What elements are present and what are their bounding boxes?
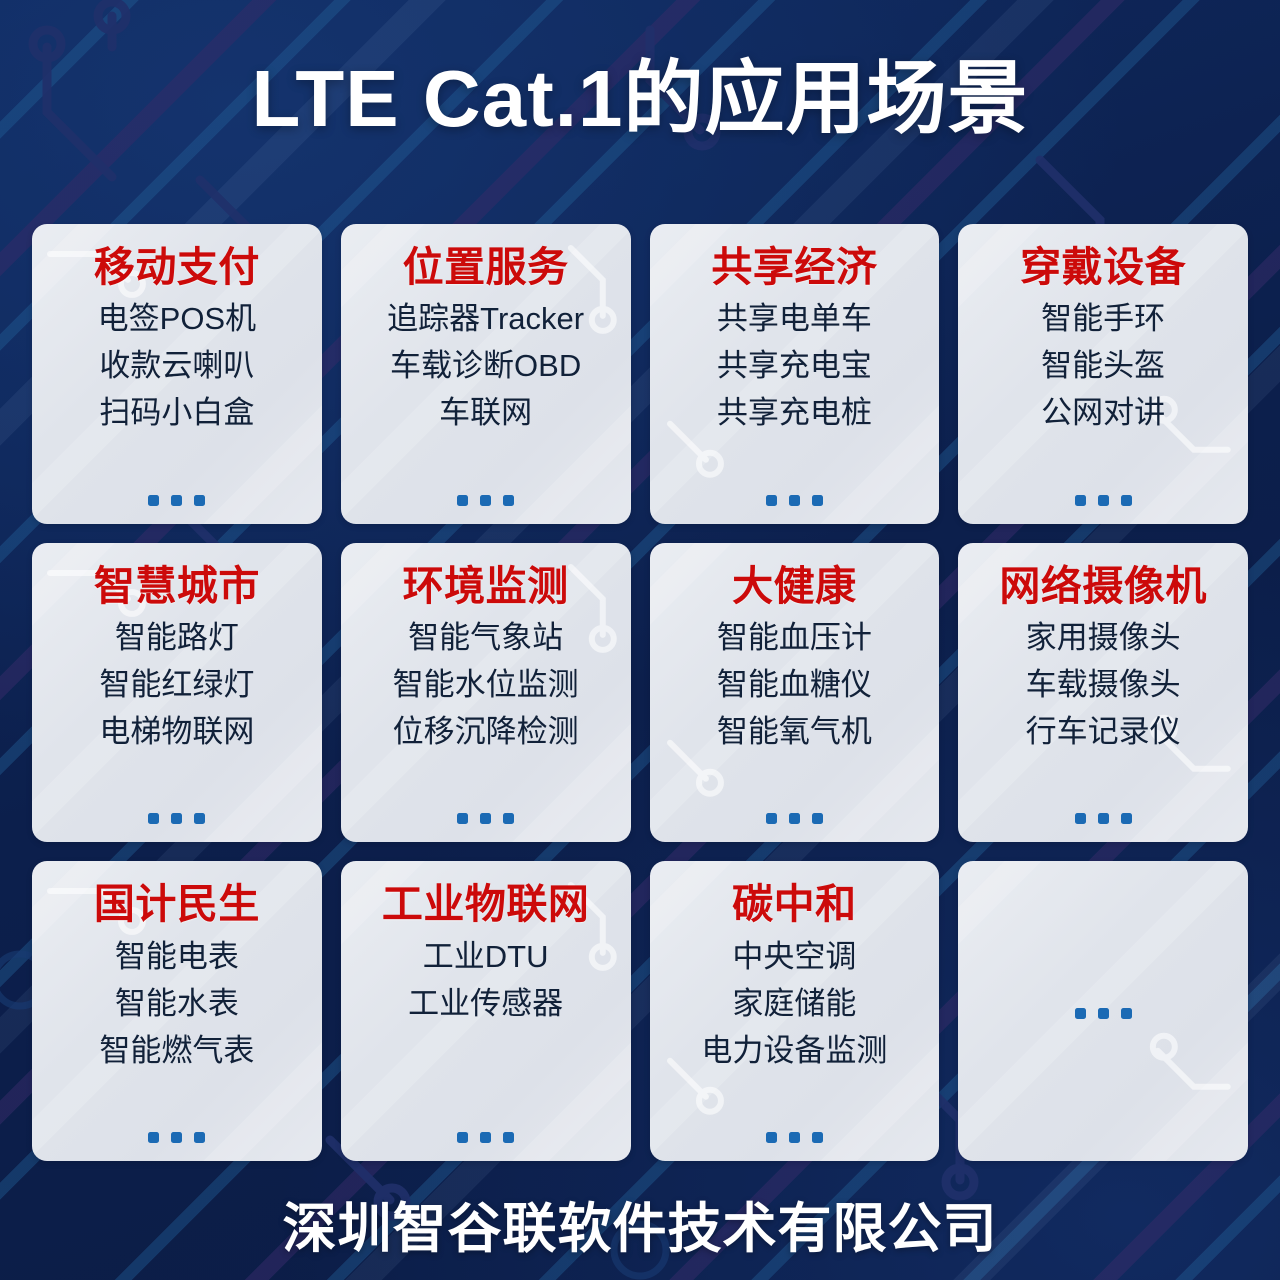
card-content: 智慧城市智能路灯智能红绿灯电梯物联网 [42, 561, 312, 829]
card-item: 智能手环 [1041, 303, 1165, 336]
scenario-card[interactable]: 共享经济共享电单车共享充电宝共享充电桩 [650, 224, 940, 524]
card-item-list: 共享电单车共享充电宝共享充电桩 [660, 303, 930, 430]
card-item: 扫码小白盒 [99, 397, 254, 430]
card-content: 国计民生智能电表智能水表智能燃气表 [42, 879, 312, 1147]
card-item: 智能电表 [115, 941, 239, 974]
scenario-card[interactable]: 环境监测智能气象站智能水位监测位移沉降检测 [341, 543, 631, 843]
card-title: 穿戴设备 [1020, 246, 1186, 289]
card-item: 智能血糖仪 [717, 669, 872, 702]
card-item: 电梯物联网 [99, 716, 254, 749]
card-content: 移动支付电签POS机收款云喇叭扫码小白盒 [42, 242, 312, 510]
more-items-ellipsis-icon [1075, 813, 1132, 828]
card-item: 车载摄像头 [1026, 669, 1181, 702]
card-item: 智能路灯 [115, 622, 239, 655]
card-item: 智能氧气机 [717, 716, 872, 749]
scenario-card-grid: 移动支付电签POS机收款云喇叭扫码小白盒位置服务追踪器Tracker车载诊断OB… [32, 224, 1248, 1161]
card-item: 行车记录仪 [1026, 716, 1181, 749]
more-items-ellipsis-icon [148, 1132, 205, 1147]
scenario-card[interactable]: 位置服务追踪器Tracker车载诊断OBD车联网 [341, 224, 631, 524]
card-content: 共享经济共享电单车共享充电宝共享充电桩 [660, 242, 930, 510]
card-item: 电签POS机 [98, 303, 256, 336]
card-item: 共享电单车 [717, 303, 872, 336]
card-item: 智能血压计 [717, 622, 872, 655]
card-item: 智能燃气表 [99, 1035, 254, 1068]
scenario-card[interactable]: 大健康智能血压计智能血糖仪智能氧气机 [650, 543, 940, 843]
card-item: 智能气象站 [408, 622, 563, 655]
card-item-list: 智能手环智能头盔公网对讲 [968, 303, 1238, 430]
card-item: 电力设备监测 [701, 1035, 887, 1068]
more-items-ellipsis-icon [1075, 495, 1132, 510]
card-item: 公网对讲 [1041, 397, 1165, 430]
card-item: 共享充电桩 [717, 397, 872, 430]
more-items-ellipsis-icon [457, 495, 514, 510]
card-content: 环境监测智能气象站智能水位监测位移沉降检测 [351, 561, 621, 829]
card-item: 家用摄像头 [1026, 622, 1181, 655]
card-item: 中央空调 [732, 941, 856, 974]
scenario-card[interactable]: 工业物联网工业DTU工业传感器 [341, 861, 631, 1161]
card-content: 大健康智能血压计智能血糖仪智能氧气机 [660, 561, 930, 829]
card-item: 工业DTU [423, 941, 549, 974]
more-items-ellipsis-icon [148, 495, 205, 510]
card-content: 位置服务追踪器Tracker车载诊断OBD车联网 [351, 242, 621, 510]
card-item-list: 智能气象站智能水位监测位移沉降检测 [351, 622, 621, 749]
scenario-card[interactable]: 智慧城市智能路灯智能红绿灯电梯物联网 [32, 543, 322, 843]
more-items-ellipsis-icon [1075, 1008, 1132, 1019]
more-items-ellipsis-icon [766, 813, 823, 828]
page-title: LTE Cat.1的应用场景 [251, 58, 1028, 140]
card-item: 收款云喇叭 [99, 350, 254, 383]
card-title: 碳中和 [732, 883, 857, 926]
card-title: 工业物联网 [382, 883, 590, 926]
scenario-card[interactable]: 碳中和中央空调家庭储能电力设备监测 [650, 861, 940, 1161]
card-item: 智能头盔 [1041, 350, 1165, 383]
card-title: 环境监测 [403, 565, 569, 608]
card-content [968, 879, 1238, 1147]
more-items-ellipsis-icon [148, 813, 205, 828]
card-item: 车载诊断OBD [390, 350, 581, 383]
card-item: 工业传感器 [408, 988, 563, 1021]
scenario-card[interactable]: 国计民生智能电表智能水表智能燃气表 [32, 861, 322, 1161]
card-item-list: 追踪器Tracker车载诊断OBD车联网 [351, 303, 621, 430]
card-item: 智能红绿灯 [99, 669, 254, 702]
card-item: 追踪器Tracker [387, 303, 584, 336]
company-name: 深圳智谷联软件技术有限公司 [283, 1201, 998, 1258]
scenario-card[interactable]: 移动支付电签POS机收款云喇叭扫码小白盒 [32, 224, 322, 524]
card-title: 国计民生 [94, 883, 260, 926]
poster-root: LTE Cat.1的应用场景 移动支付电签POS机收款云喇叭扫码小白盒位置服务追… [0, 0, 1280, 1280]
more-items-ellipsis-icon [766, 1132, 823, 1147]
card-title: 网络摄像机 [999, 565, 1207, 608]
more-items-ellipsis-icon [766, 495, 823, 510]
card-item-list: 中央空调家庭储能电力设备监测 [660, 941, 930, 1068]
card-item-list: 智能电表智能水表智能燃气表 [42, 941, 312, 1068]
card-item-list: 智能血压计智能血糖仪智能氧气机 [660, 622, 930, 749]
card-title: 位置服务 [403, 246, 569, 289]
more-items-ellipsis-icon [457, 1132, 514, 1147]
card-item: 智能水表 [115, 988, 239, 1021]
footer-area: 深圳智谷联软件技术有限公司 [0, 1201, 1280, 1258]
card-item: 位移沉降检测 [393, 716, 579, 749]
scenario-card-placeholder[interactable] [958, 861, 1248, 1161]
card-content: 网络摄像机家用摄像头车载摄像头行车记录仪 [968, 561, 1238, 829]
title-area: LTE Cat.1的应用场景 [0, 58, 1280, 140]
card-title: 智慧城市 [94, 565, 260, 608]
card-item-list: 工业DTU工业传感器 [351, 941, 621, 1021]
scenario-card[interactable]: 网络摄像机家用摄像头车载摄像头行车记录仪 [958, 543, 1248, 843]
card-content: 碳中和中央空调家庭储能电力设备监测 [660, 879, 930, 1147]
card-title: 大健康 [732, 565, 857, 608]
card-item: 共享充电宝 [717, 350, 872, 383]
card-item-list: 智能路灯智能红绿灯电梯物联网 [42, 622, 312, 749]
card-title: 移动支付 [94, 246, 260, 289]
more-items-ellipsis-icon [457, 813, 514, 828]
card-item-list: 家用摄像头车载摄像头行车记录仪 [968, 622, 1238, 749]
card-content: 工业物联网工业DTU工业传感器 [351, 879, 621, 1147]
card-content: 穿戴设备智能手环智能头盔公网对讲 [968, 242, 1238, 510]
card-item: 家庭储能 [732, 988, 856, 1021]
scenario-card[interactable]: 穿戴设备智能手环智能头盔公网对讲 [958, 224, 1248, 524]
card-title: 共享经济 [711, 246, 877, 289]
card-item-list: 电签POS机收款云喇叭扫码小白盒 [42, 303, 312, 430]
card-item: 车联网 [439, 397, 532, 430]
card-item: 智能水位监测 [393, 669, 579, 702]
